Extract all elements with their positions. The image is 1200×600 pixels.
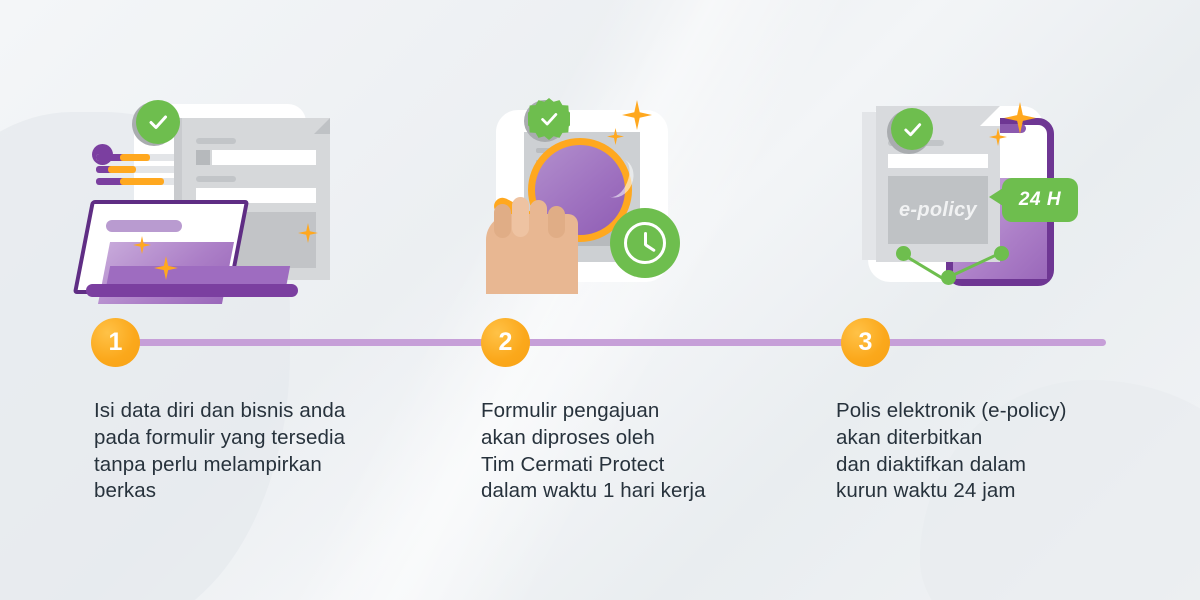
timeline-node-1[interactable]: 1	[91, 318, 140, 367]
timeline: 1 2 3	[0, 0, 1200, 600]
timeline-node-2[interactable]: 2	[481, 318, 530, 367]
timeline-segment-3	[880, 339, 1106, 346]
caption-line: akan diproses oleh	[481, 425, 811, 452]
step-1-caption: Isi data diri dan bisnis anda pada formu…	[94, 398, 424, 505]
caption-line: akan diterbitkan	[836, 425, 1176, 452]
infographic-canvas: e-policy 24 H 1 2 3 Isi data d	[0, 0, 1200, 600]
caption-line: Tim Cermati Protect	[481, 452, 811, 479]
timeline-node-3-label: 3	[859, 330, 873, 355]
caption-line: pada formulir yang tersedia	[94, 425, 424, 452]
timeline-segment-2	[520, 339, 850, 346]
caption-line: tanpa perlu melampirkan	[94, 452, 424, 479]
caption-line: Formulir pengajuan	[481, 398, 811, 425]
caption-line: berkas	[94, 478, 424, 505]
caption-line: kurun waktu 24 jam	[836, 478, 1176, 505]
caption-line: Polis elektronik (e-policy)	[836, 398, 1176, 425]
timeline-node-3[interactable]: 3	[841, 318, 890, 367]
step-2-caption: Formulir pengajuan akan diproses oleh Ti…	[481, 398, 811, 505]
timeline-segment-1	[128, 339, 498, 346]
timeline-node-2-label: 2	[499, 330, 513, 355]
caption-line: dalam waktu 1 hari kerja	[481, 478, 811, 505]
timeline-node-1-label: 1	[109, 330, 123, 355]
step-3-caption: Polis elektronik (e-policy) akan diterbi…	[836, 398, 1176, 505]
caption-line: Isi data diri dan bisnis anda	[94, 398, 424, 425]
caption-line: dan diaktifkan dalam	[836, 452, 1176, 479]
